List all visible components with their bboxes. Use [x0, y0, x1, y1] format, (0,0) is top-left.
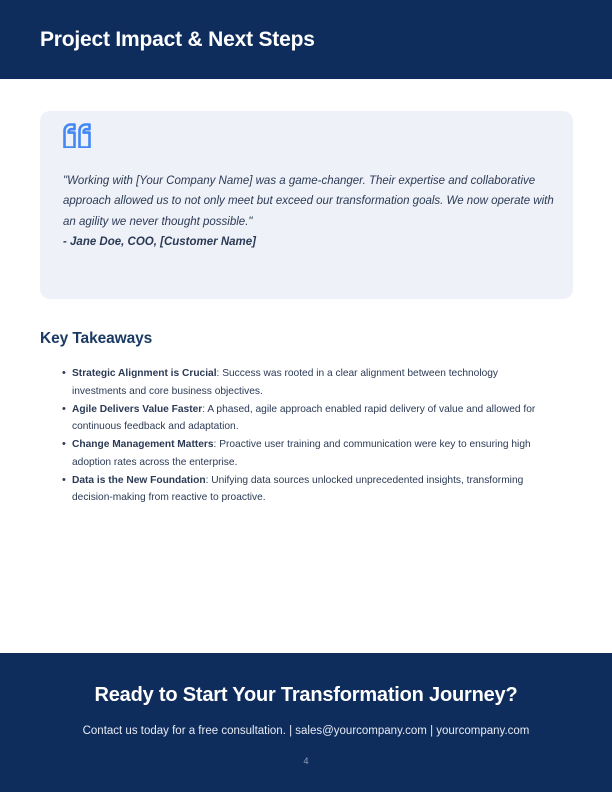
list-item-term: Change Management Matters	[72, 439, 214, 450]
key-takeaways-list: •Strategic Alignment is Crucial: Success…	[40, 365, 545, 507]
testimonial-quote-text: "Working with [Your Company Name] was a …	[63, 171, 558, 232]
bullet-marker: •	[62, 436, 66, 454]
key-takeaways-heading: Key Takeaways	[40, 328, 152, 350]
page-number: 4	[0, 754, 612, 768]
footer-cta-heading: Ready to Start Your Transformation Journ…	[0, 682, 612, 708]
list-item-term: Data is the New Foundation	[72, 475, 206, 486]
list-item-term: Agile Delivers Value Faster	[72, 404, 202, 415]
list-item: •Agile Delivers Value Faster: A phased, …	[40, 401, 545, 436]
page-footer: Ready to Start Your Transformation Journ…	[0, 653, 612, 792]
testimonial-body: "Working with [Your Company Name] was a …	[63, 171, 558, 253]
page-title: Project Impact & Next Steps	[40, 27, 315, 53]
list-item: •Data is the New Foundation: Unifying da…	[40, 472, 545, 507]
bullet-marker: •	[62, 365, 66, 383]
list-item: •Strategic Alignment is Crucial: Success…	[40, 365, 545, 400]
testimonial-attribution: - Jane Doe, COO, [Customer Name]	[63, 232, 558, 252]
page-header: Project Impact & Next Steps	[0, 0, 612, 79]
bullet-marker: •	[62, 472, 66, 490]
bullet-marker: •	[62, 401, 66, 419]
footer-contact-line: Contact us today for a free consultation…	[0, 722, 612, 740]
list-item-term: Strategic Alignment is Crucial	[72, 368, 217, 379]
list-item: •Change Management Matters: Proactive us…	[40, 436, 545, 471]
testimonial-card: "Working with [Your Company Name] was a …	[40, 111, 573, 299]
quote-mark-icon	[62, 122, 92, 148]
